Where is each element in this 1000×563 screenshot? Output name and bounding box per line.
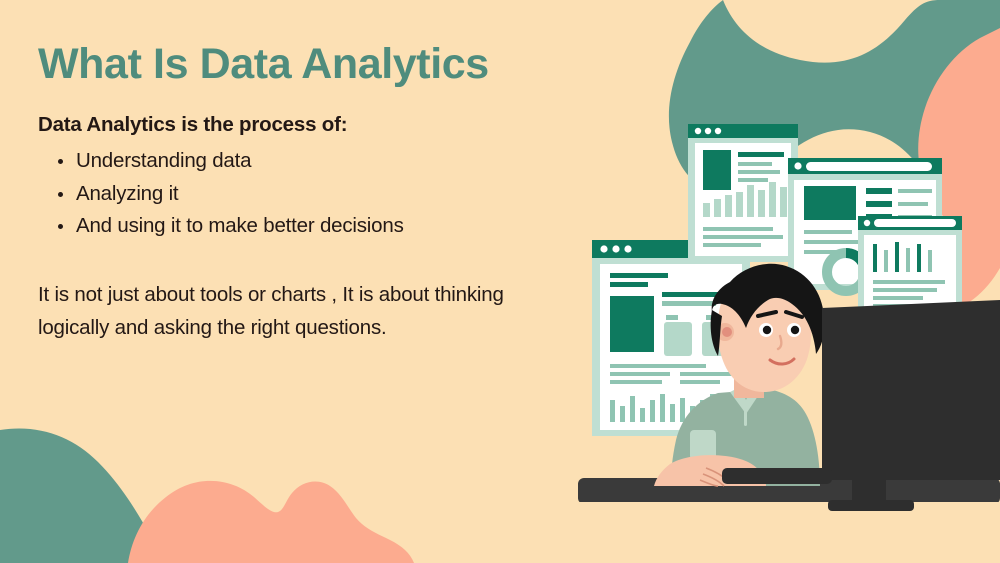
bullet-list: Understanding data Analyzing it And usin… [38,145,558,242]
page-title: What Is Data Analytics [38,42,558,87]
list-item: And using it to make better decisions [38,210,558,242]
dashboard-window-top-center [688,124,798,262]
body-paragraph: It is not just about tools or charts , I… [38,278,548,344]
keyboard-illustration [722,468,832,484]
list-item-label: Understanding data [76,149,251,172]
bullet-dot-icon [58,159,63,164]
floor-area [570,502,1000,563]
slide-root: What Is Data Analytics Data Analytics is… [0,0,1000,563]
list-item: Analyzing it [38,178,558,210]
person-at-computer-with-dashboards [570,100,1000,563]
monitor-base [828,500,914,511]
list-item: Understanding data [38,145,558,177]
lead-text: Data Analytics is the process of: [38,113,558,137]
address-bar-illustration [874,219,956,227]
address-bar-illustration [806,162,932,171]
blob-salmon-bottom-left [128,481,414,563]
monitor-illustration [822,300,1000,511]
list-item-label: And using it to make better decisions [76,214,404,237]
list-item-label: Analyzing it [76,182,178,205]
ear-inner [722,327,732,337]
bullet-dot-icon [58,224,63,229]
text-content: What Is Data Analytics Data Analytics is… [38,42,558,345]
bullet-dot-icon [58,192,63,197]
